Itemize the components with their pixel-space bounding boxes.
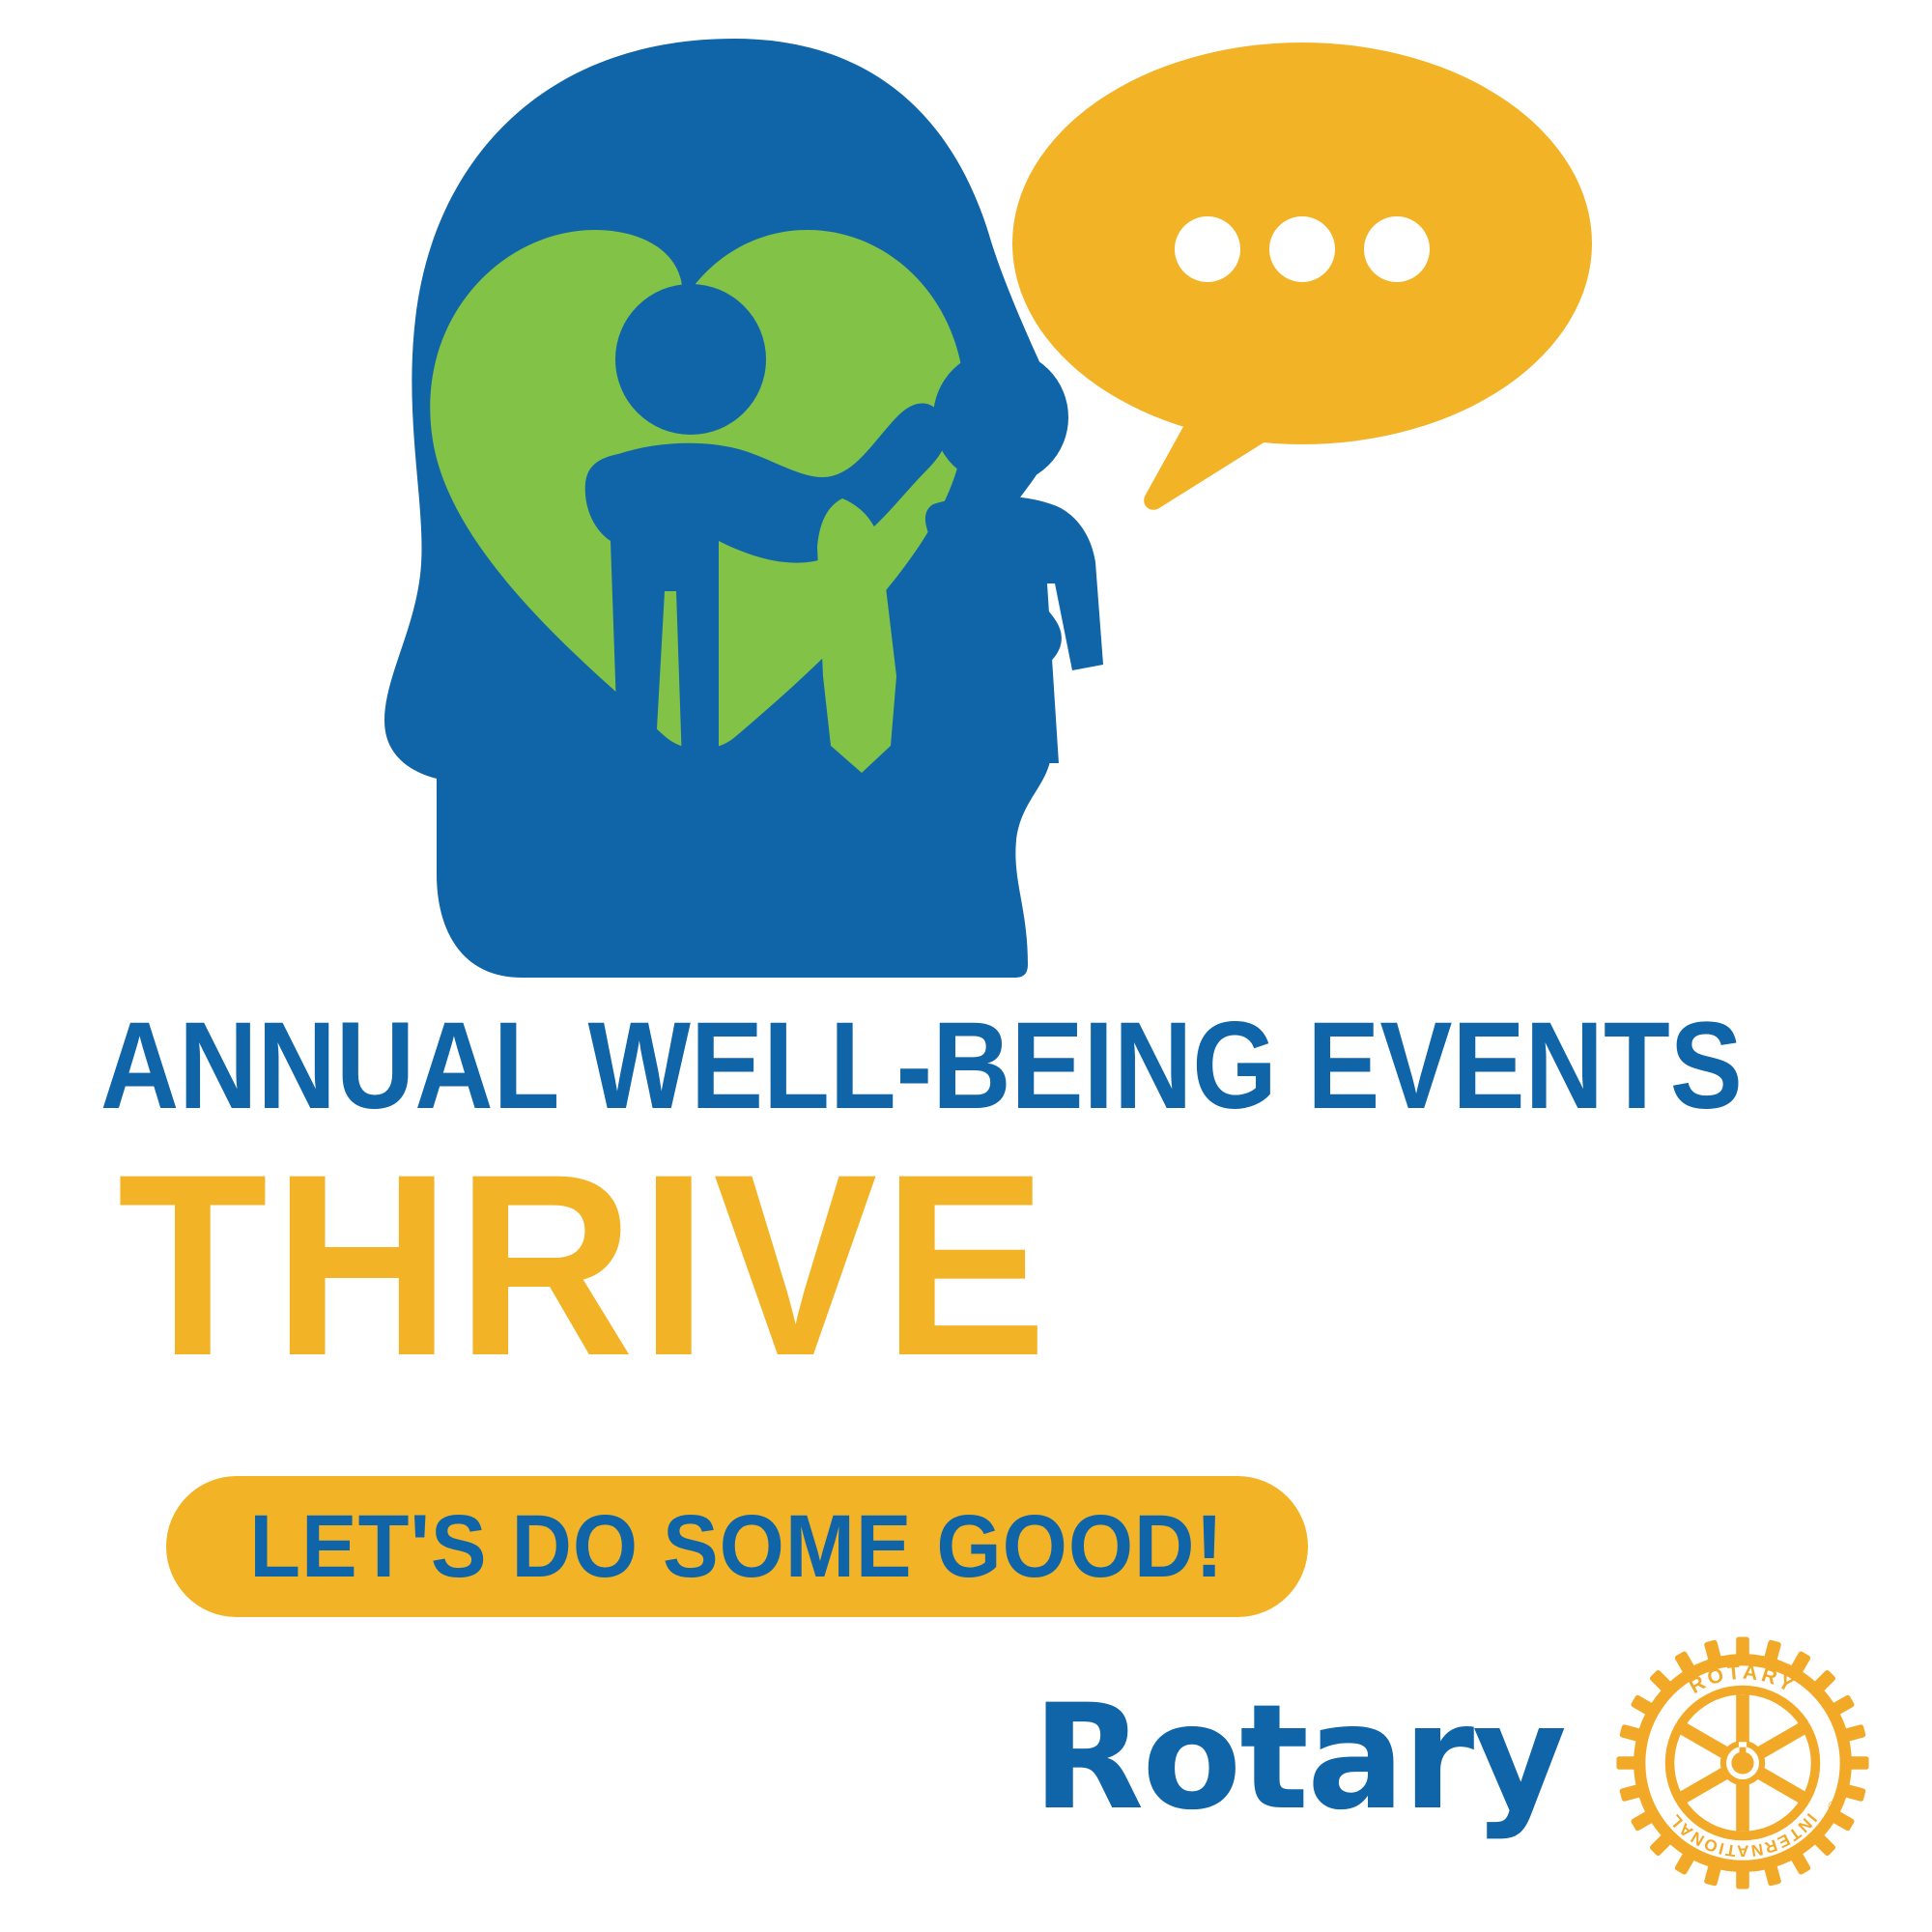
wheel-hub — [1720, 1741, 1765, 1785]
speech-bubble — [1012, 43, 1592, 510]
speech-dot-1 — [1175, 216, 1240, 282]
speech-dot-3 — [1364, 216, 1430, 282]
rotary-wordmark: Rotary — [1033, 1686, 1565, 1831]
rotary-international-wheel-icon: ROTARY INTERNATIONAL ® — [1611, 1632, 1874, 1894]
speech-dot-2 — [1269, 216, 1335, 282]
headline-thrive: THRIVE — [0, 1128, 1835, 1384]
headline-primary: ANNUAL WELL-BEING EVENTS — [0, 1005, 1700, 1128]
poster-canvas: ANNUAL WELL-BEING EVENTS THRIVE LET'S DO… — [0, 0, 1932, 1932]
wheel-registered-mark: ® — [1828, 1799, 1837, 1813]
headline-block: ANNUAL WELL-BEING EVENTS THRIVE — [0, 1005, 1932, 1384]
tagline-text: LET'S DO SOME GOOD! — [250, 1502, 1225, 1591]
hero-artwork — [0, 0, 1932, 1024]
tagline-pill[interactable]: LET'S DO SOME GOOD! — [166, 1476, 1308, 1617]
rotary-logo-lockup: Rotary — [947, 1633, 1874, 1893]
